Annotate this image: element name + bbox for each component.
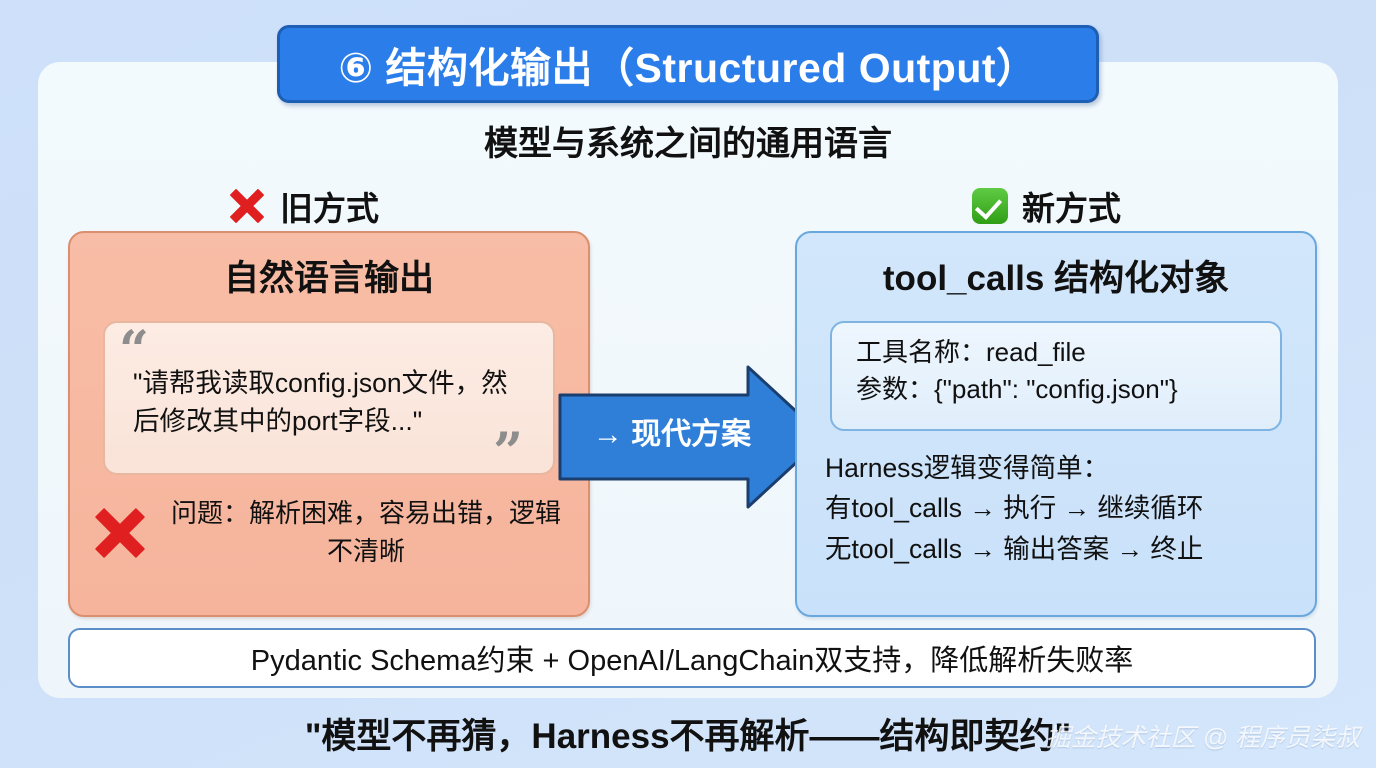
tool-call-box: 工具名称：read_file 参数：{"path": "config.json"… [830,321,1282,431]
page-title: ⑥ 结构化输出（Structured Output） [277,25,1099,103]
natural-language-quote-box: “ "请帮我读取config.json文件，然后修改其中的port字段..." … [103,321,555,475]
cross-mark-icon [228,187,266,225]
new-card-title: tool_calls 结构化对象 [797,250,1315,301]
old-way-card: 自然语言输出 “ "请帮我读取config.json文件，然后修改其中的port… [68,231,590,617]
new-way-card: tool_calls 结构化对象 工具名称：read_file 参数：{"pat… [795,231,1317,617]
quote-close-icon: ” [493,427,523,479]
tool-name-line: 工具名称：read_file [856,334,1280,371]
harness-logic-block: Harness逻辑变得简单： 有tool_calls → 执行 → 继续循环 无… [825,448,1295,569]
old-card-title: 自然语言输出 [70,250,588,301]
harness-branch-with-tool-calls: 有tool_calls → 执行 → 继续循环 [825,488,1295,528]
old-way-heading: 旧方式 [228,182,379,230]
harness-branch-without-tool-calls: 无tool_calls → 输出答案 → 终止 [825,529,1295,569]
tool-arguments-line: 参数：{"path": "config.json"} [856,371,1280,408]
transition-arrow: → 现代方案 [558,363,826,511]
new-way-heading: 新方式 [972,182,1121,230]
new-way-heading-label: 新方式 [1022,182,1121,230]
footer-summary-bar: Pydantic Schema约束 + OpenAI/LangChain双支持，… [68,628,1316,688]
check-mark-button-icon [972,188,1008,224]
quote-text: "请帮我读取config.json文件，然后修改其中的port字段..." [133,365,533,440]
cross-mark-icon [92,505,148,561]
arrow-shape-icon [558,363,826,511]
problem-row: 问题：解析困难，容易出错，逻辑不清晰 [92,495,566,570]
page-subtitle: 模型与系统之间的通用语言 [0,116,1376,165]
problem-text: 问题：解析困难，容易出错，逻辑不清晰 [166,495,566,570]
old-way-heading-label: 旧方式 [280,182,379,230]
harness-title: Harness逻辑变得简单： [825,448,1295,488]
watermark: 掘金技术社区 @ 程序员柒叔 [1046,718,1360,754]
